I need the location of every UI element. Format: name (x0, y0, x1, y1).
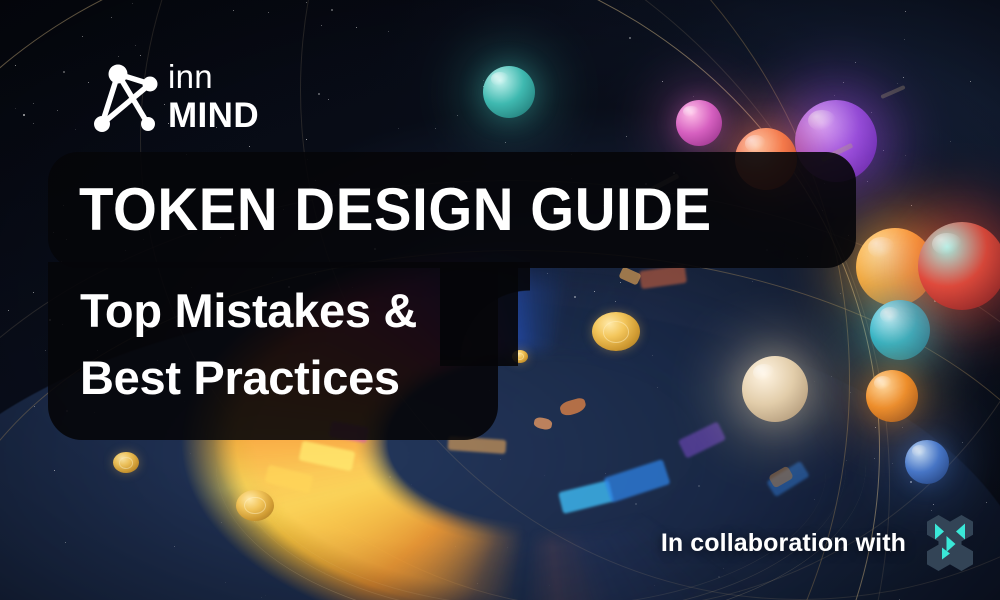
coin-mid-rim (244, 497, 265, 514)
innmind-wordmark: inn MIND (168, 60, 259, 133)
orb-orange (866, 370, 918, 422)
coin-small-rim (119, 457, 134, 469)
orb-magenta (676, 100, 722, 146)
collaboration-footer: In collaboration with (661, 514, 978, 572)
coin-large (592, 312, 640, 351)
wordmark-mind: MIND (168, 98, 259, 133)
page-title: TOKEN DESIGN GUIDE (79, 168, 712, 252)
wordmark-inn: inn (168, 60, 259, 96)
orb-redteal (918, 222, 1000, 310)
orb-moon (742, 356, 808, 422)
partner-hexagon-logo-icon[interactable] (922, 514, 978, 572)
orb-teal-sm (483, 66, 535, 118)
collaboration-label: In collaboration with (661, 529, 906, 558)
orb-blue-sm (905, 440, 949, 484)
subtitle-line-1: Top Mistakes & (80, 278, 550, 345)
innmind-network-logo-icon (88, 62, 164, 136)
innmind-logo[interactable]: inn MIND (88, 58, 273, 142)
subtitle-line-2: Best Practices (80, 345, 550, 412)
coin-mid (236, 490, 274, 521)
page-subtitle: Top Mistakes & Best Practices (80, 278, 550, 411)
coin-large-rim (603, 321, 630, 343)
token-design-guide-banner: inn MIND TOKEN DESIGN GUIDE Top Mistakes… (0, 0, 1000, 600)
